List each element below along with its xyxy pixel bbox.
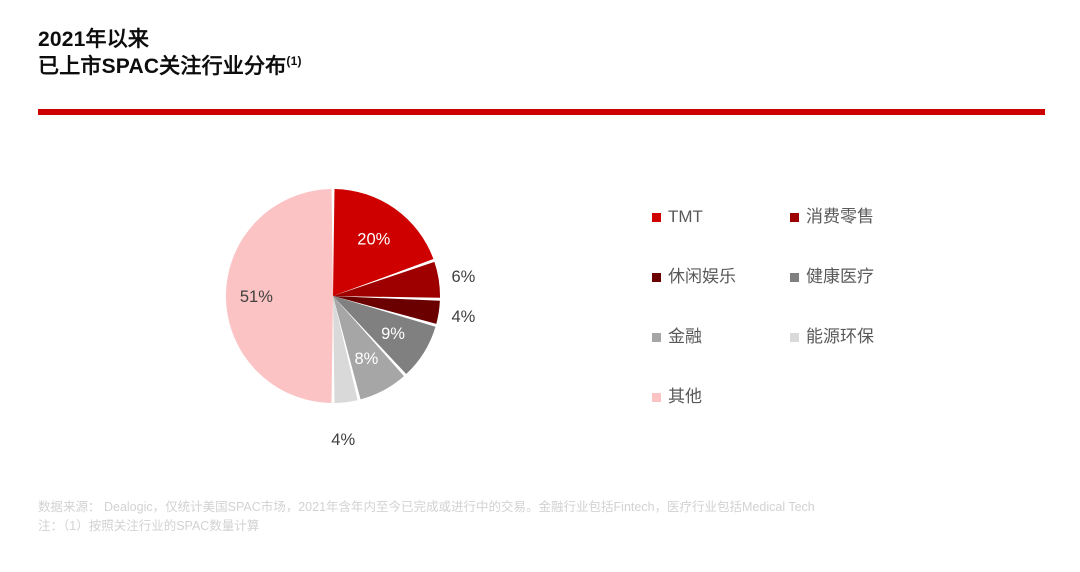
pie-slice-value-label: 8% (354, 350, 378, 368)
legend-item-other[interactable]: 其他 (652, 385, 790, 409)
legend-swatch-icon (790, 273, 799, 282)
pie-slice-value-label: 9% (381, 325, 405, 343)
legend-item-consumer-retail[interactable]: 消费零售 (790, 205, 940, 229)
pie-slice-value-label: 20% (357, 230, 390, 248)
legend-item-finance[interactable]: 金融 (652, 325, 790, 349)
legend-swatch-icon (652, 393, 661, 402)
legend-label: TMT (668, 207, 703, 227)
legend-label: 消费零售 (806, 207, 874, 227)
pie-chart-svg: 20%6%4%9%8%4%51% (180, 160, 510, 450)
legend-label: 健康医疗 (806, 267, 874, 287)
legend-swatch-icon (790, 213, 799, 222)
legend-label: 其他 (668, 387, 702, 407)
page-title: 2021年以来 已上市SPAC关注行业分布(1) (38, 26, 738, 80)
footnote-note-line: 注：（1）按照关注行业的SPAC数量计算 (38, 517, 1058, 536)
legend-swatch-icon (652, 273, 661, 282)
legend-item-energy-environment[interactable]: 能源环保 (790, 325, 940, 349)
title-line-2-text: 已上市SPAC关注行业分布 (38, 55, 286, 78)
legend-swatch-icon (652, 213, 661, 222)
title-divider-rule (38, 109, 1045, 115)
pie-slice-value-label: 4% (331, 431, 355, 449)
legend-item-healthcare[interactable]: 健康医疗 (790, 265, 940, 289)
pie-slice-value-label: 4% (451, 308, 475, 326)
legend-label: 能源环保 (806, 327, 874, 347)
legend-label: 金融 (668, 327, 702, 347)
pie-chart: 20%6%4%9%8%4%51% (180, 160, 510, 450)
legend-item-tmt[interactable]: TMT (652, 205, 790, 229)
footnote-source-line: 数据来源： Dealogic，仅统计美国SPAC市场，2021年含年内至今已完成… (38, 498, 1058, 517)
footnote: 数据来源： Dealogic，仅统计美国SPAC市场，2021年含年内至今已完成… (38, 498, 1058, 536)
chart-legend: TMT 消费零售 休闲娱乐 健康医疗 金融 能源环保 其他 (652, 205, 982, 445)
title-line-1: 2021年以来 (38, 26, 738, 53)
legend-item-leisure-entertainment[interactable]: 休闲娱乐 (652, 265, 790, 289)
title-line-2: 已上市SPAC关注行业分布(1) (38, 53, 738, 80)
legend-swatch-icon (790, 333, 799, 342)
title-superscript: (1) (286, 54, 301, 68)
pie-slice-value-label: 51% (240, 288, 273, 306)
slide-root: 2021年以来 已上市SPAC关注行业分布(1) 20%6%4%9%8%4%51… (0, 0, 1080, 572)
legend-swatch-icon (652, 333, 661, 342)
legend-label: 休闲娱乐 (668, 267, 736, 287)
pie-slice-value-label: 6% (451, 268, 475, 286)
